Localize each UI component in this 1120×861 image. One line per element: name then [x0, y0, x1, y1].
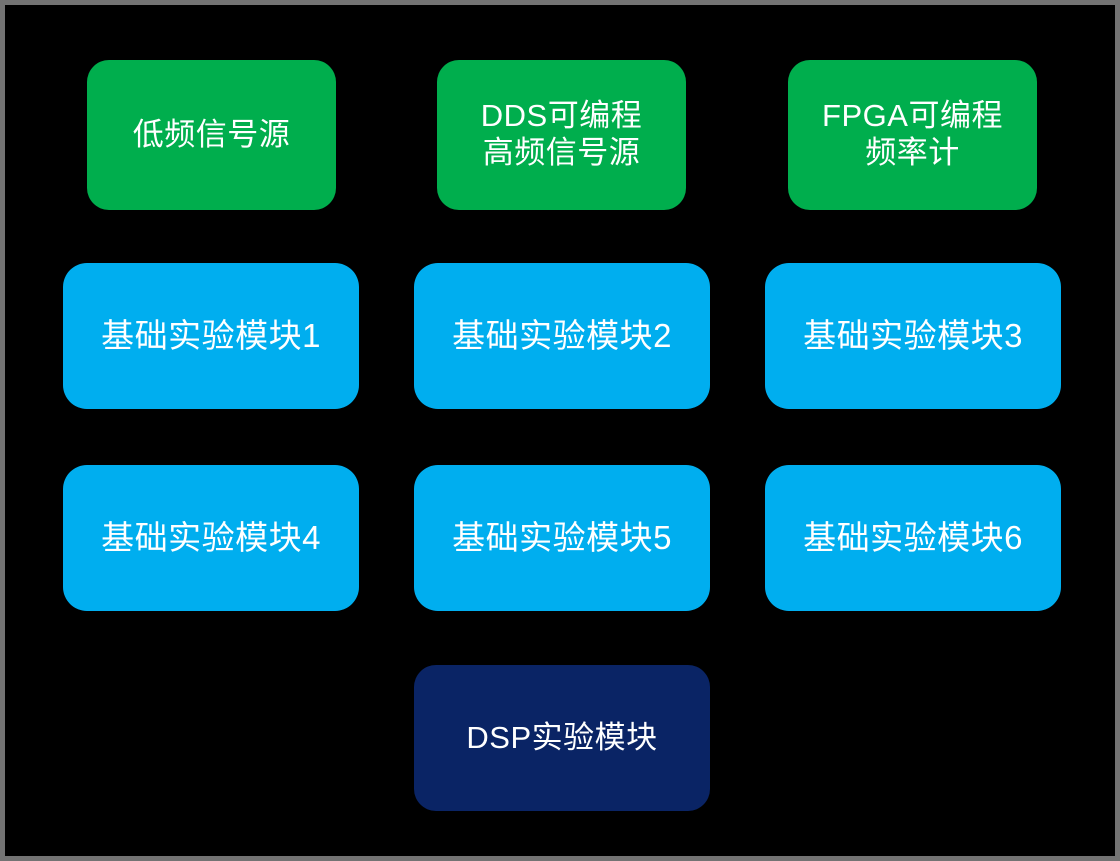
node-basic-experiment-module-1[interactable]: 基础实验模块1	[63, 263, 359, 409]
node-basic-experiment-module-3[interactable]: 基础实验模块3	[765, 263, 1061, 409]
diagram-canvas: 低频信号源 DDS可编程 高频信号源 FPGA可编程 频率计 基础实验模块1 基…	[0, 0, 1120, 861]
node-low-frequency-signal-source[interactable]: 低频信号源	[87, 60, 336, 210]
node-dsp-experiment-module[interactable]: DSP实验模块	[414, 665, 710, 811]
node-dds-programmable-hf-signal-source[interactable]: DDS可编程 高频信号源	[437, 60, 686, 210]
node-basic-experiment-module-5[interactable]: 基础实验模块5	[414, 465, 710, 611]
node-fpga-programmable-frequency-counter[interactable]: FPGA可编程 频率计	[788, 60, 1037, 210]
node-basic-experiment-module-2[interactable]: 基础实验模块2	[414, 263, 710, 409]
node-basic-experiment-module-6[interactable]: 基础实验模块6	[765, 465, 1061, 611]
node-basic-experiment-module-4[interactable]: 基础实验模块4	[63, 465, 359, 611]
